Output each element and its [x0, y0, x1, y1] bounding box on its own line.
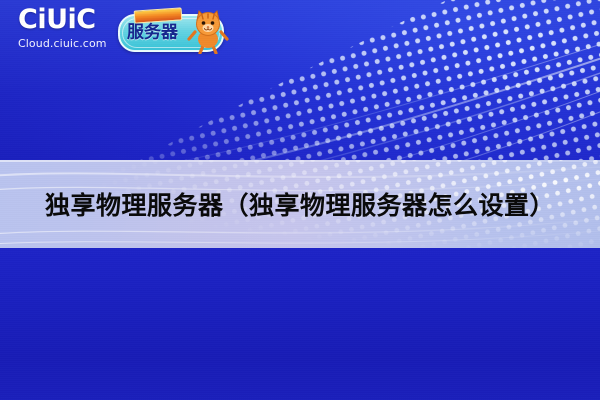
- orange-cat-mascot-icon: [186, 8, 230, 54]
- page-title: 独享物理服务器（独享物理服务器怎么设置）: [0, 186, 600, 222]
- background-bottom: [0, 248, 600, 400]
- brand-logo[interactable]: CiUiC Cloud.ciuic.com: [18, 6, 122, 49]
- logo-tagline: Cloud.ciuic.com: [18, 38, 122, 49]
- title-band: 独享物理服务器（独享物理服务器怎么设置）: [0, 160, 600, 248]
- logo-wordmark: CiUiC: [18, 6, 122, 33]
- badge-label: 服务器: [127, 25, 178, 42]
- promo-banner: 独享物理服务器（独享物理服务器怎么设置） CiUiC Cloud.ciuic.c…: [0, 0, 600, 400]
